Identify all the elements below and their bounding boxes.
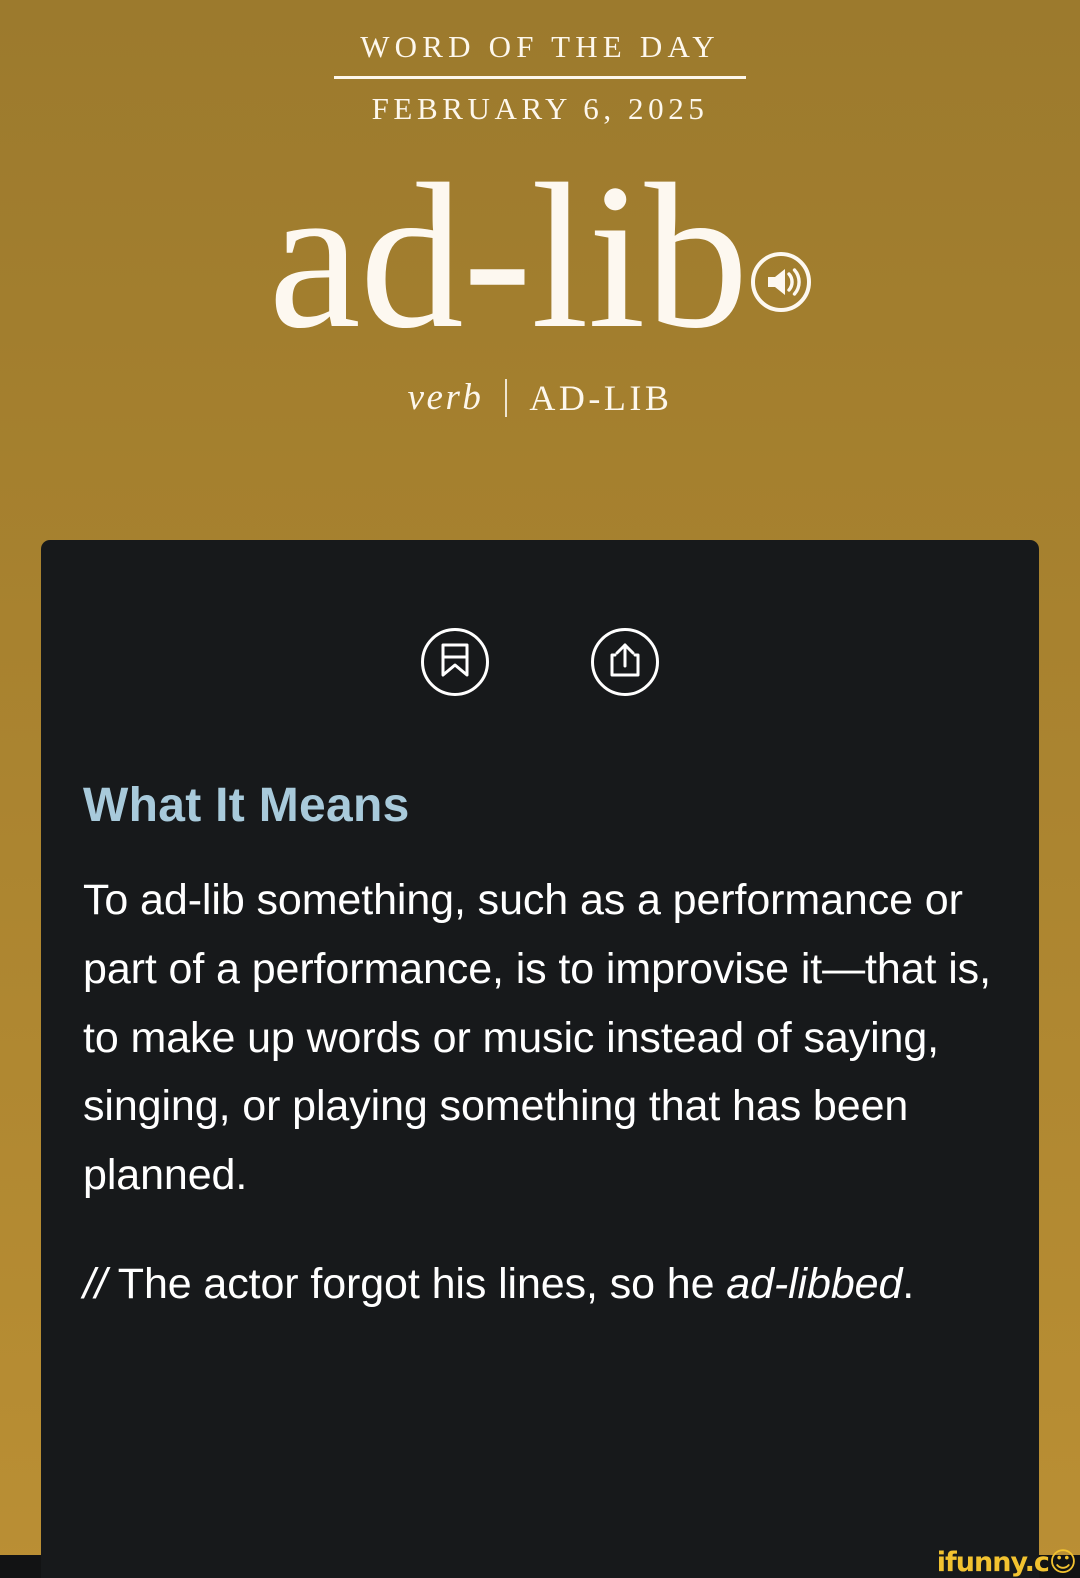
definition-card: What It Means To ad-lib something, such … [41, 540, 1039, 1578]
example-text-before: The actor forgot his lines, so he [118, 1260, 726, 1308]
part-of-speech-line: verb AD-LIB [0, 376, 1080, 419]
ifunny-watermark: ifunny.c☺ [937, 1549, 1076, 1576]
word-of-the-day-card: WORD OF THE DAY FEBRUARY 6, 2025 ad-lib … [0, 0, 1080, 1578]
smiley-icon: ☺ [1049, 1549, 1076, 1576]
watermark-text: ifunny.c [937, 1549, 1049, 1576]
example-term: ad-libbed [726, 1260, 902, 1308]
date-label: FEBRUARY 6, 2025 [0, 93, 1080, 124]
example-text-after: . [902, 1260, 914, 1308]
headword: ad-lib [268, 152, 747, 360]
card-action-bar [41, 628, 1039, 696]
hero-section: WORD OF THE DAY FEBRUARY 6, 2025 ad-lib … [0, 0, 1080, 419]
bookmark-button[interactable] [421, 628, 489, 696]
bookmark-icon [438, 642, 472, 683]
speaker-icon[interactable] [750, 251, 812, 313]
kicker-divider [334, 76, 746, 79]
definition-text: To ad-lib something, such as a performan… [83, 866, 997, 1210]
part-of-speech: verb [408, 376, 484, 419]
kicker-label: WORD OF THE DAY [0, 31, 1080, 62]
section-title: What It Means [83, 782, 1039, 830]
example-sentence: // The actor forgot his lines, so he ad-… [83, 1250, 997, 1319]
pronunciation: AD-LIB [529, 377, 672, 419]
share-icon [607, 641, 643, 684]
headword-row: ad-lib [0, 152, 1080, 360]
share-button[interactable] [591, 628, 659, 696]
example-marker: // [83, 1260, 107, 1308]
pos-separator [505, 379, 507, 417]
